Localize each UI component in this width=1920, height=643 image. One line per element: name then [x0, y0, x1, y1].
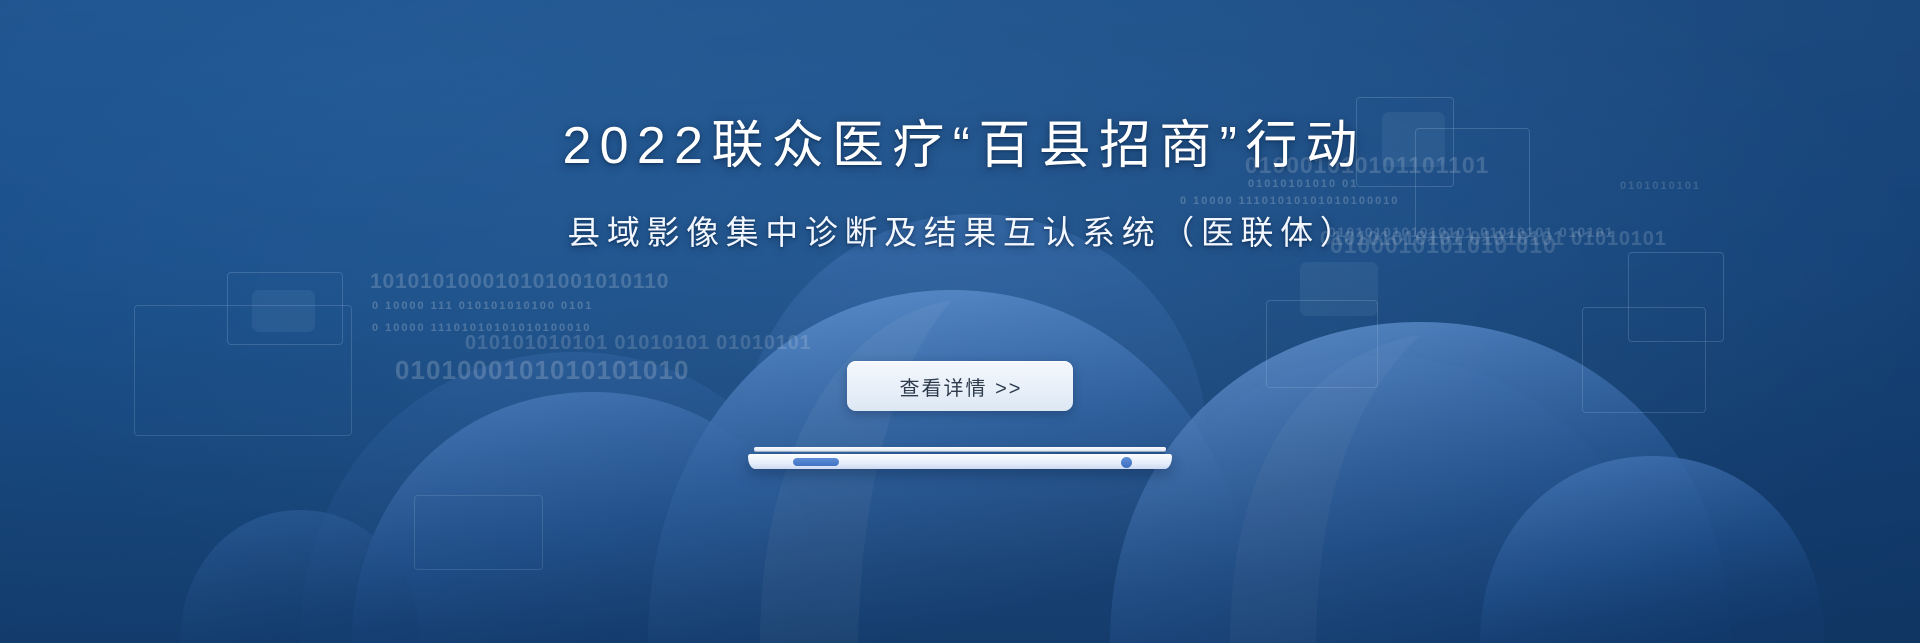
decorative-rectangle	[1628, 252, 1724, 342]
device-speaker-bar	[793, 458, 839, 466]
tablet-device-base	[748, 447, 1172, 473]
promo-banner: 101010100010101001010110 0 10000 111 010…	[0, 0, 1920, 643]
decorative-rectangle	[414, 495, 543, 570]
banner-title: 2022联众医疗“百县招商”行动	[0, 116, 1920, 176]
device-indicator-dot	[1121, 457, 1132, 468]
decorative-rectangle	[1266, 300, 1378, 388]
banner-subtitle: 县域影像集中诊断及结果互认系统（医联体）	[0, 213, 1920, 253]
view-details-button[interactable]: 查看详情 >>	[847, 361, 1073, 411]
device-screen-edge	[754, 447, 1166, 451]
geometric-decoration-layer	[0, 0, 1920, 643]
decorative-square	[252, 290, 315, 332]
